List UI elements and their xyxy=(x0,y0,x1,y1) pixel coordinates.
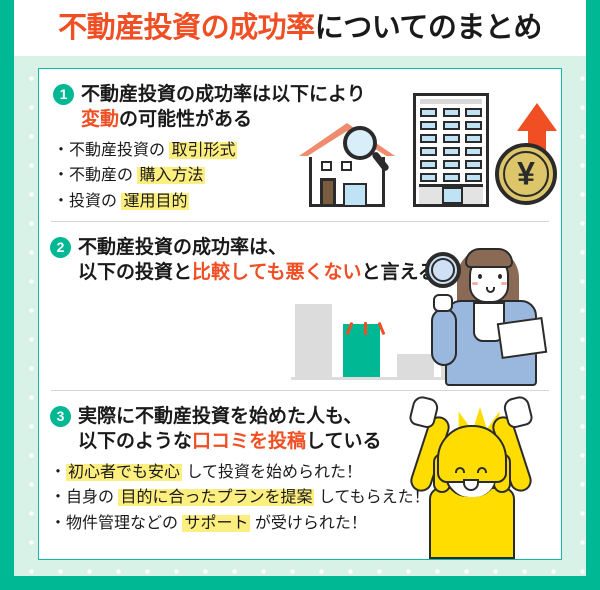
section-2-illustration xyxy=(291,228,553,386)
section-1: 1 不動産投資の成功率は以下により 変動の可能性がある ・不動産投資の 取引形式… xyxy=(39,69,561,221)
section-3-heading-line1: 実際に不動産投資を始めた人も、 xyxy=(78,404,381,429)
title-band: 不動産投資の成功率についてのまとめ xyxy=(14,0,586,56)
bullet-suffix: して投資を始められた！ xyxy=(182,464,362,481)
bullet-highlight: 購入方法 xyxy=(137,167,205,184)
bullet-highlight: 運用目的 xyxy=(121,193,189,210)
section-3-heading-suffix: している xyxy=(306,431,381,452)
section-3-heading-accent: 口コミを投稿 xyxy=(192,431,306,452)
bullet-prefix: ・自身の xyxy=(50,489,118,506)
chart-bar xyxy=(295,304,332,377)
section-1-heading-accent: 変動 xyxy=(81,109,119,130)
bullet-prefix: ・物件管理などの xyxy=(50,515,182,532)
section-2-heading-prefix: 以下の投資と xyxy=(78,262,192,283)
section-3: 3 実際に不動産投資を始めた人も、 以下のような口コミを投稿している ・初心者で… xyxy=(39,391,561,560)
bullet-suffix: が受けられた！ xyxy=(250,515,366,532)
section-2: 2 不動産投資の成功率は、 以下の投資と比較しても悪くないと言える xyxy=(39,222,561,390)
page-title-plain: についてのまとめ xyxy=(315,12,542,44)
page-title-accent: 不動産投資の成功率 xyxy=(58,12,315,44)
section-1-heading-plain: の可能性がある xyxy=(119,109,252,130)
section-3-heading: 実際に不動産投資を始めた人も、 以下のような口コミを投稿している xyxy=(78,404,381,455)
section-3-heading-line2: 以下のような口コミを投稿している xyxy=(78,429,381,454)
bullet-highlight: 取引形式 xyxy=(169,142,237,159)
woman-with-magnifier-illustration xyxy=(421,234,549,386)
bullet-highlight: 初心者でも安心 xyxy=(66,464,182,481)
section-1-illustration: ¥ xyxy=(295,87,555,207)
bullet-highlight: 目的に合ったプランを提案 xyxy=(118,489,314,506)
section-3-heading-prefix: 以下のような xyxy=(78,431,192,452)
bullet-prefix: ・不動産の xyxy=(53,167,137,184)
page-title: 不動産投資の成功率についてのまとめ xyxy=(58,14,542,43)
content-card: 1 不動産投資の成功率は以下により 変動の可能性がある ・不動産投資の 取引形式… xyxy=(38,68,562,560)
section-2-number-badge: 2 xyxy=(50,237,71,258)
section-1-number-badge: 1 xyxy=(53,84,74,105)
bullet-prefix: ・投資の xyxy=(53,193,121,210)
apartment-building-icon xyxy=(413,93,489,207)
yen-coin-icon: ¥ xyxy=(495,143,557,205)
section-3-number-badge: 3 xyxy=(50,406,71,427)
document-icon xyxy=(497,317,548,359)
bullet-prefix: ・不動産投資の xyxy=(53,142,169,159)
infographic-frame: 不動産投資の成功率についてのまとめ 1 不動産投資の成功率は以下により 変動の可… xyxy=(0,0,600,590)
bullet-prefix: ・ xyxy=(50,464,66,481)
sparkle-marks-icon xyxy=(346,317,388,335)
bullet-highlight: サポート xyxy=(182,515,250,532)
section-3-illustration xyxy=(389,391,559,559)
yen-symbol: ¥ xyxy=(499,157,553,189)
